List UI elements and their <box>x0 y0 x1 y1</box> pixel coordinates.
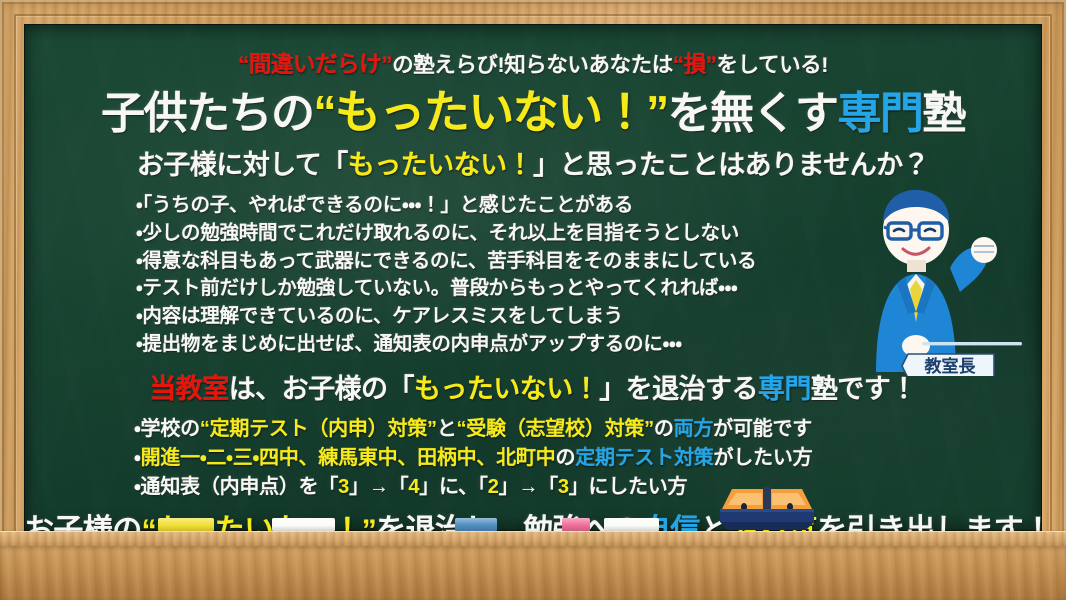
page-title: 子供たちの“もったいない！”を無くす専門塾 <box>24 86 1042 140</box>
blackboard-eraser[interactable] <box>718 485 816 531</box>
tray-front-panel <box>0 546 1066 600</box>
closing-part-1: お子様の <box>24 514 142 531</box>
text-segment-8: 」にしたい方 <box>569 476 688 498</box>
midline-part-3-highlight: もったいない！ <box>414 374 599 404</box>
midline-part-6: 塾です！ <box>811 374 917 404</box>
offer-bullet-list: ・学校の“定期テスト（内申）対策”と“受験（志望校）対策”の両方が可能です ・開… <box>134 415 972 502</box>
text-segment-0: ・学校の <box>134 418 200 440</box>
text-segment-4: の <box>654 418 674 440</box>
text-segment-3: “受験（志望校）対策” <box>457 418 654 440</box>
chalk-piece-3[interactable] <box>455 518 497 531</box>
text-segment-6: 」→「 <box>499 476 558 498</box>
text-segment-2: と <box>437 418 457 440</box>
list-item: ・開進一・二・三・四中、練馬東中、田柄中、北町中の定期テスト対策がしたい方 <box>134 444 972 473</box>
offer-heading: 当教室は、お子様の「もったいない！」を退治する専門塾です！ <box>24 372 1042 406</box>
title-part-5: 塾 <box>922 89 964 138</box>
text-segment-2: 」→「 <box>349 476 408 498</box>
chalk-piece-1[interactable] <box>158 518 214 531</box>
text-segment-1: “定期テスト（内申）対策” <box>200 418 437 440</box>
text-segment-7: 3 <box>558 476 569 498</box>
headline: “間違いだらけ”の塾えらび!知らないあなたは“損”をしている! <box>24 52 1042 78</box>
list-item: ・得意な科目もあって武器にできるのに、苦手科目をそのままにしている <box>136 248 952 276</box>
list-item: ・少しの勉強時間でこれだけ取れるのに、それ以上を目指そうとしない <box>136 220 952 248</box>
list-item: ・「うちの子、やればできるのに・・・！」と感じたことがある <box>136 192 952 220</box>
text-segment-0: ・通知表（内申点）を「 <box>134 476 338 498</box>
title-part-2-highlight: “もったいない！” <box>313 86 667 138</box>
midline-part-5-specialist: 専門 <box>758 374 811 404</box>
text-segment-1: 3 <box>338 476 349 498</box>
text-segment-3: 4 <box>408 476 419 498</box>
title-part-4-specialist: 専門 <box>837 89 922 138</box>
text-segment-3: 定期テスト対策 <box>575 447 713 469</box>
question-part-2-highlight: もったいない！ <box>348 150 533 180</box>
question-part-1: お子様に対して「 <box>137 150 348 180</box>
board-content: “間違いだらけ”の塾えらび!知らないあなたは“損”をしている! 子供たちの“もっ… <box>24 24 1042 531</box>
chalk-piece-2[interactable] <box>272 518 335 531</box>
text-segment-4: 」に、「 <box>419 476 487 498</box>
text-segment-2: の <box>555 447 575 469</box>
chalk-tray <box>0 531 1066 600</box>
text-segment-6: が可能です <box>713 418 812 440</box>
teacher-illustration: 教室長 <box>864 176 1024 376</box>
title-part-3: を無くす <box>668 89 838 138</box>
closing-part-3: を退治し、勉強への <box>376 514 641 531</box>
list-item: ・内容は理解できているのに、ケアレスミスをしてしまう <box>136 303 952 331</box>
midline-part-4: 」を退治する <box>599 374 758 404</box>
text-segment-1: 開進一・二・三・四中、練馬東中、田柄中、北町中 <box>141 447 556 469</box>
text-segment-5: 2 <box>488 476 499 498</box>
list-item: ・通知表（内申点）を「3」→「4」に、「2」→「3」にしたい方 <box>134 473 972 502</box>
problem-bullet-list: ・「うちの子、やればできるのに・・・！」と感じたことがある ・少しの勉強時間でこ… <box>136 192 952 359</box>
headline-red-1: “間違いだらけ” <box>238 52 392 77</box>
teacher-badge-label: 教室長 <box>924 356 977 376</box>
list-item: ・学校の“定期テスト（内申）対策”と“受験（志望校）対策”の両方が可能です <box>134 415 972 444</box>
midline-part-2: は、お子様の「 <box>229 374 414 404</box>
text-segment-5: 両方 <box>674 418 714 440</box>
list-item: ・テスト前だけしか勉強していない。普段からもっとやってくれれば・・・ <box>136 275 952 303</box>
headline-white-1: の塾えらび!知らないあなたは <box>392 53 673 77</box>
chalkboard-surface: “間違いだらけ”の塾えらび!知らないあなたは“損”をしている! 子供たちの“もっ… <box>24 24 1042 531</box>
list-item: ・提出物をまじめに出せば、通知表の内申点がアップするのに・・・ <box>136 331 952 359</box>
midline-part-1-ourschool: 当教室 <box>149 374 228 404</box>
headline-red-2: “損” <box>673 52 717 77</box>
title-part-1: 子供たちの <box>101 89 313 138</box>
headline-white-2: をしている! <box>717 53 828 77</box>
blackboard-poster: “間違いだらけ”の塾えらび!知らないあなたは“損”をしている! 子供たちの“もっ… <box>0 0 1066 600</box>
text-segment-4: がしたい方 <box>714 447 813 469</box>
chalk-piece-5[interactable] <box>604 518 659 531</box>
closing-part-7: を引き出します！ <box>817 514 1042 531</box>
chalk-piece-4[interactable] <box>562 518 590 531</box>
tray-ledge <box>0 531 1066 546</box>
